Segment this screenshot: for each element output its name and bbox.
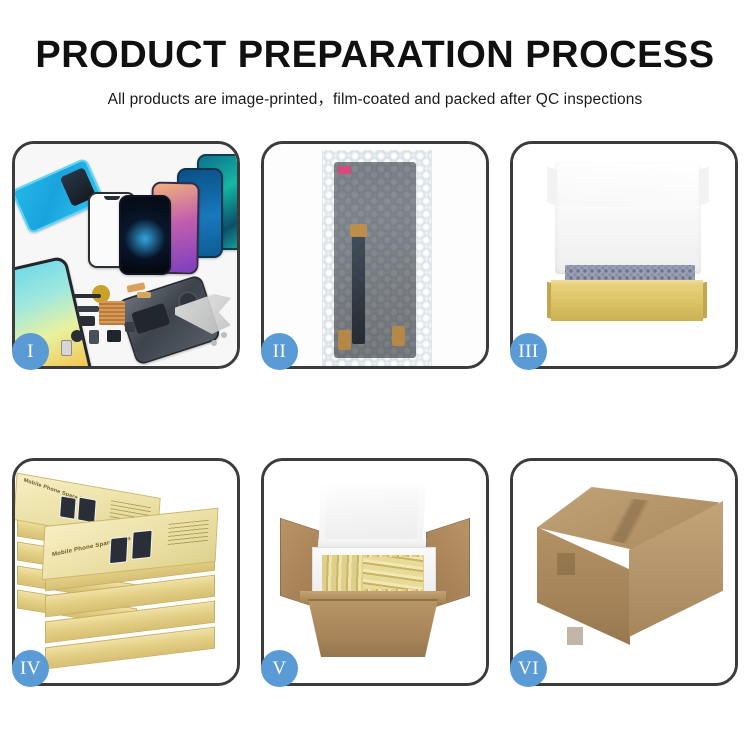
screw-dot-graphic: [211, 340, 217, 346]
box-spec-lines-graphic: [168, 520, 209, 546]
taptic-part-graphic: [107, 330, 121, 342]
small-part-graphic: [73, 294, 101, 298]
step-badge-5: V: [261, 650, 298, 687]
step-image-1: [15, 144, 237, 366]
step-panel-4[interactable]: Mobile Phone Spare Parts Mobile Phone Sp…: [12, 458, 240, 686]
page-title: PRODUCT PREPARATION PROCESS: [0, 0, 750, 76]
camera-module-graphic: [79, 316, 95, 326]
speaker-graphic: [71, 330, 83, 342]
carton-tape-lower-graphic: [567, 627, 583, 645]
step-panel-1[interactable]: I: [12, 141, 240, 369]
step-badge-6: VI: [510, 650, 547, 687]
page-subtitle: All products are image-printed，film-coat…: [0, 76, 750, 109]
connector-graphic: [77, 306, 99, 312]
step-panel-5[interactable]: V: [261, 458, 489, 686]
lcd-flex-strip-graphic: [352, 236, 365, 344]
box-phone-graphic: [131, 530, 152, 560]
step-panel-6[interactable]: VI: [510, 458, 738, 686]
step-image-3: [513, 144, 735, 366]
step-image-6: [513, 461, 735, 683]
screw-part-graphic: [61, 340, 72, 356]
lcd-tab-left-graphic: [338, 330, 351, 350]
step-badge-2: II: [261, 333, 298, 370]
header: PRODUCT PREPARATION PROCESS All products…: [0, 0, 750, 109]
step-image-5: [264, 461, 486, 683]
lcd-connector-graphic: [350, 224, 367, 237]
box-phone-graphic: [109, 536, 128, 564]
step-panel-3[interactable]: III: [510, 141, 738, 369]
step-badge-4: IV: [12, 650, 49, 687]
step-image-2: [264, 144, 486, 366]
step-image-4: Mobile Phone Spare Parts Mobile Phone Sp…: [15, 461, 237, 683]
phone-dark-screen-graphic: [119, 195, 171, 275]
steps-grid: I II: [12, 141, 738, 686]
carton-tape-upper-graphic: [557, 553, 575, 575]
pink-qc-label-graphic: [338, 166, 351, 174]
button-part-graphic: [89, 330, 99, 344]
product-preparation-infographic: PRODUCT PREPARATION PROCESS All products…: [0, 0, 750, 750]
foam-lid-open-graphic: [318, 483, 425, 545]
box-phone-graphic: [59, 495, 77, 520]
white-foam-body-graphic: [559, 206, 697, 270]
carton-front-graphic: [308, 599, 438, 657]
step-badge-3: III: [510, 333, 547, 370]
box-phone-graphic: [77, 497, 97, 524]
screw-dot-graphic: [221, 332, 227, 338]
gold-flex-graphic: [137, 292, 151, 298]
packed-yellow-boxes-graphic: [363, 557, 423, 589]
step-badge-1: I: [12, 333, 49, 370]
step-panel-2[interactable]: II: [261, 141, 489, 369]
lcd-tab-right-graphic: [392, 326, 405, 346]
logic-board-graphic: [99, 301, 125, 325]
sim-tray-graphic: [125, 322, 135, 332]
kraft-box-front-graphic: [551, 287, 703, 321]
